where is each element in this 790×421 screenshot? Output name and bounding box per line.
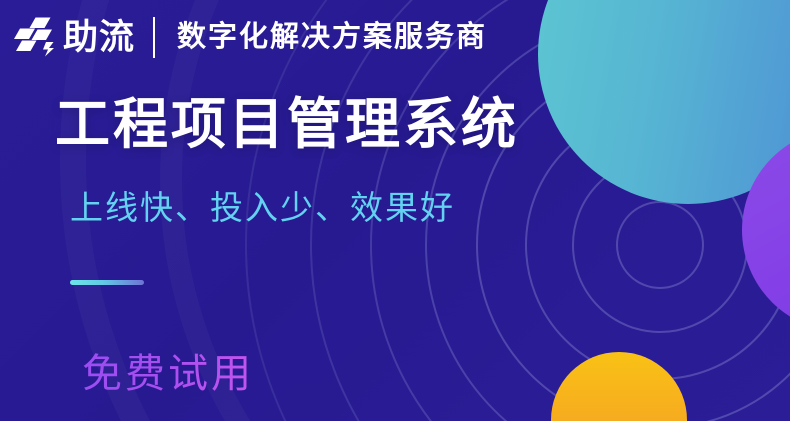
brand-header: 助流 数字化解决方案服务商 (14, 13, 487, 61)
banner-content: 助流 数字化解决方案服务商 工程项目管理系统 上线快、投入少、效果好 免费试用 (0, 0, 790, 421)
page-title: 工程项目管理系统 (55, 94, 519, 155)
accent-rule (70, 280, 144, 285)
zhuliu-logo-icon (14, 14, 60, 60)
header-divider (153, 17, 155, 58)
free-trial-button[interactable]: 免费试用 (82, 352, 254, 396)
promo-banner: 助流 数字化解决方案服务商 工程项目管理系统 上线快、投入少、效果好 免费试用 (0, 0, 790, 421)
brand-tagline: 数字化解决方案服务商 (177, 23, 487, 52)
page-subtitle: 上线快、投入少、效果好 (70, 190, 455, 226)
brand-wordmark: 助流 (63, 20, 135, 55)
